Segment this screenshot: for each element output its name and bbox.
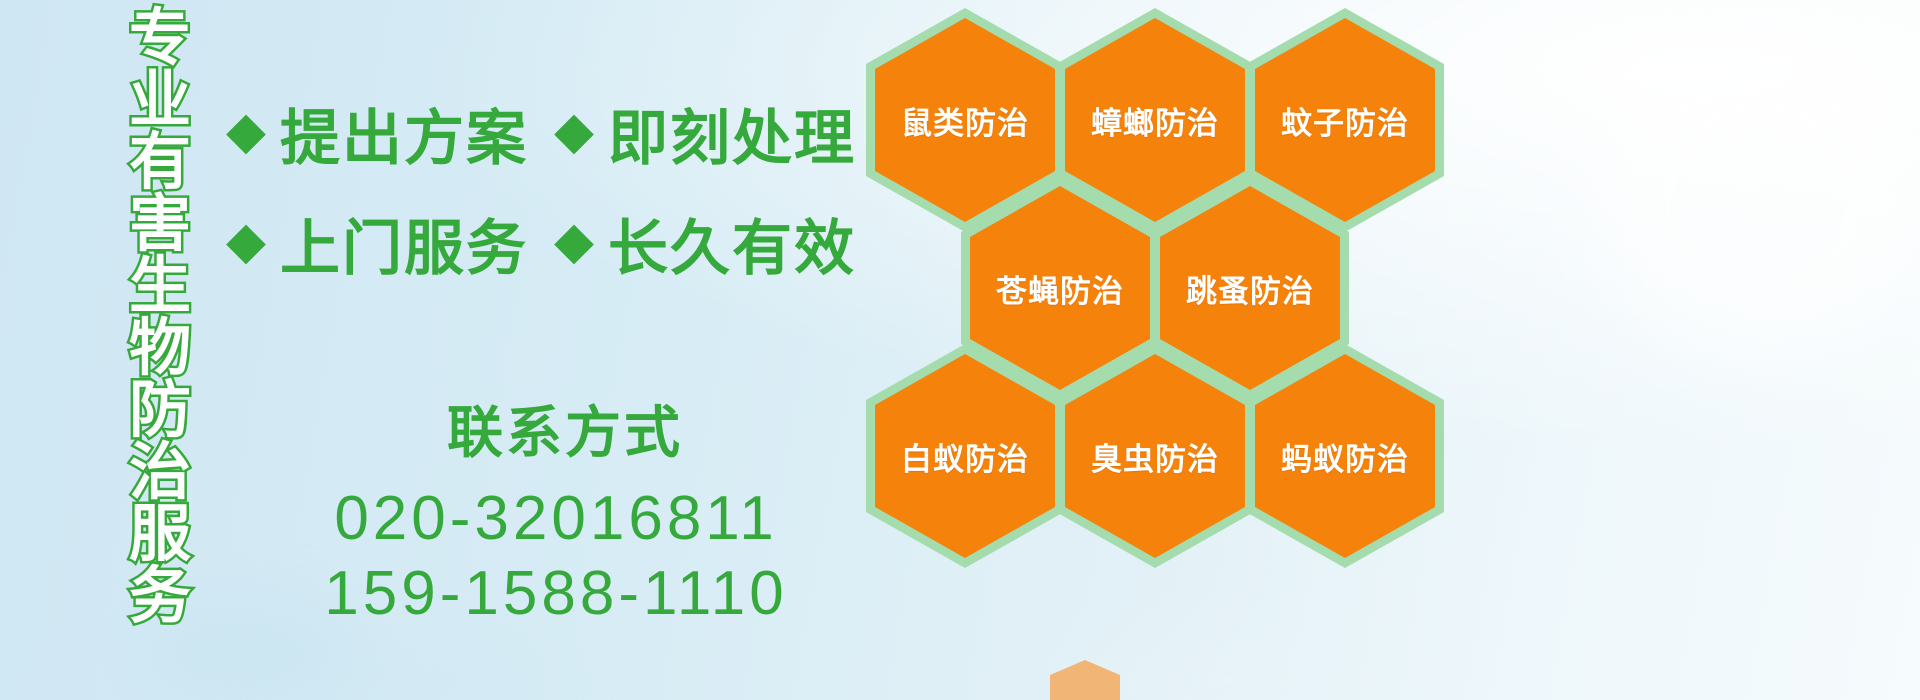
hex-inner: 蟑螂防治 [1065,18,1245,222]
service-label: 蟑螂防治 [1091,98,1219,143]
service-label: 苍蝇防治 [996,266,1124,311]
service-label: 白蚁防治 [901,434,1029,479]
hex-inner: 跳蚤防治 [1160,186,1340,390]
hex-inner: 蚊子防治 [1255,18,1435,222]
contact-block: 联系方式 020-32016811 159-1588-1110 [226,388,886,633]
hex-inner: 鼠类防治 [875,18,1055,222]
feature-item: ◆ 提出方案 [226,90,528,177]
feature-row: ◆ 上门服务 ◆ 长久有效 [226,188,866,298]
service-label: 蚊子防治 [1281,98,1409,143]
service-label: 臭虫防治 [1091,434,1219,479]
decorative-hex-shape [1050,660,1120,700]
vertical-headline-char: 防 [129,380,191,442]
contact-title: 联系方式 [226,388,886,469]
diamond-bullet-icon: ◆ [226,105,266,157]
vertical-headline-char: 物 [129,318,191,380]
hex-inner: 臭虫防治 [1065,354,1245,558]
service-label: 鼠类防治 [901,98,1029,143]
vertical-headline-char: 生 [129,256,191,318]
diamond-bullet-icon: ◆ [554,215,594,267]
vertical-headline: 专 业 有 害 生 物 防 治 服 务 [112,8,208,568]
service-honeycomb: 鼠类防治 蟑螂防治 蚊子防治 苍蝇防治 跳蚤防治 白蚁防治 [856,0,1476,580]
feature-list: ◆ 提出方案 ◆ 即刻处理 ◆ 上门服务 ◆ 长久有效 [226,78,866,298]
feature-label: 长久有效 [608,200,856,287]
diamond-bullet-icon: ◆ [554,105,594,157]
diamond-bullet-icon: ◆ [226,215,266,267]
feature-label: 提出方案 [280,90,528,177]
vertical-headline-char: 服 [129,504,191,566]
phone-number-mobile[interactable]: 159-1588-1110 [226,558,886,629]
background-glow [1600,40,1920,360]
vertical-headline-char: 害 [129,194,191,256]
service-label: 蚂蚁防治 [1281,434,1409,479]
vertical-headline-char: 专 [129,8,191,70]
vertical-headline-char: 有 [129,132,191,194]
phone-number-landline[interactable]: 020-32016811 [226,483,886,554]
feature-item: ◆ 即刻处理 [554,90,856,177]
pest-control-banner: 专 业 有 害 生 物 防 治 服 务 ◆ 提出方案 ◆ 即刻处理 ◆ 上门服务 [0,0,1920,700]
hex-inner: 白蚁防治 [875,354,1055,558]
feature-label: 即刻处理 [608,90,856,177]
feature-item: ◆ 上门服务 [226,200,528,287]
vertical-headline-char: 业 [129,70,191,132]
background-blob [300,640,560,700]
vertical-headline-char: 务 [129,566,191,628]
hex-inner: 蚂蚁防治 [1255,354,1435,558]
service-label: 跳蚤防治 [1186,266,1314,311]
hex-inner: 苍蝇防治 [970,186,1150,390]
feature-row: ◆ 提出方案 ◆ 即刻处理 [226,78,866,188]
feature-item: ◆ 长久有效 [554,200,856,287]
vertical-headline-char: 治 [129,442,191,504]
feature-label: 上门服务 [280,200,528,287]
